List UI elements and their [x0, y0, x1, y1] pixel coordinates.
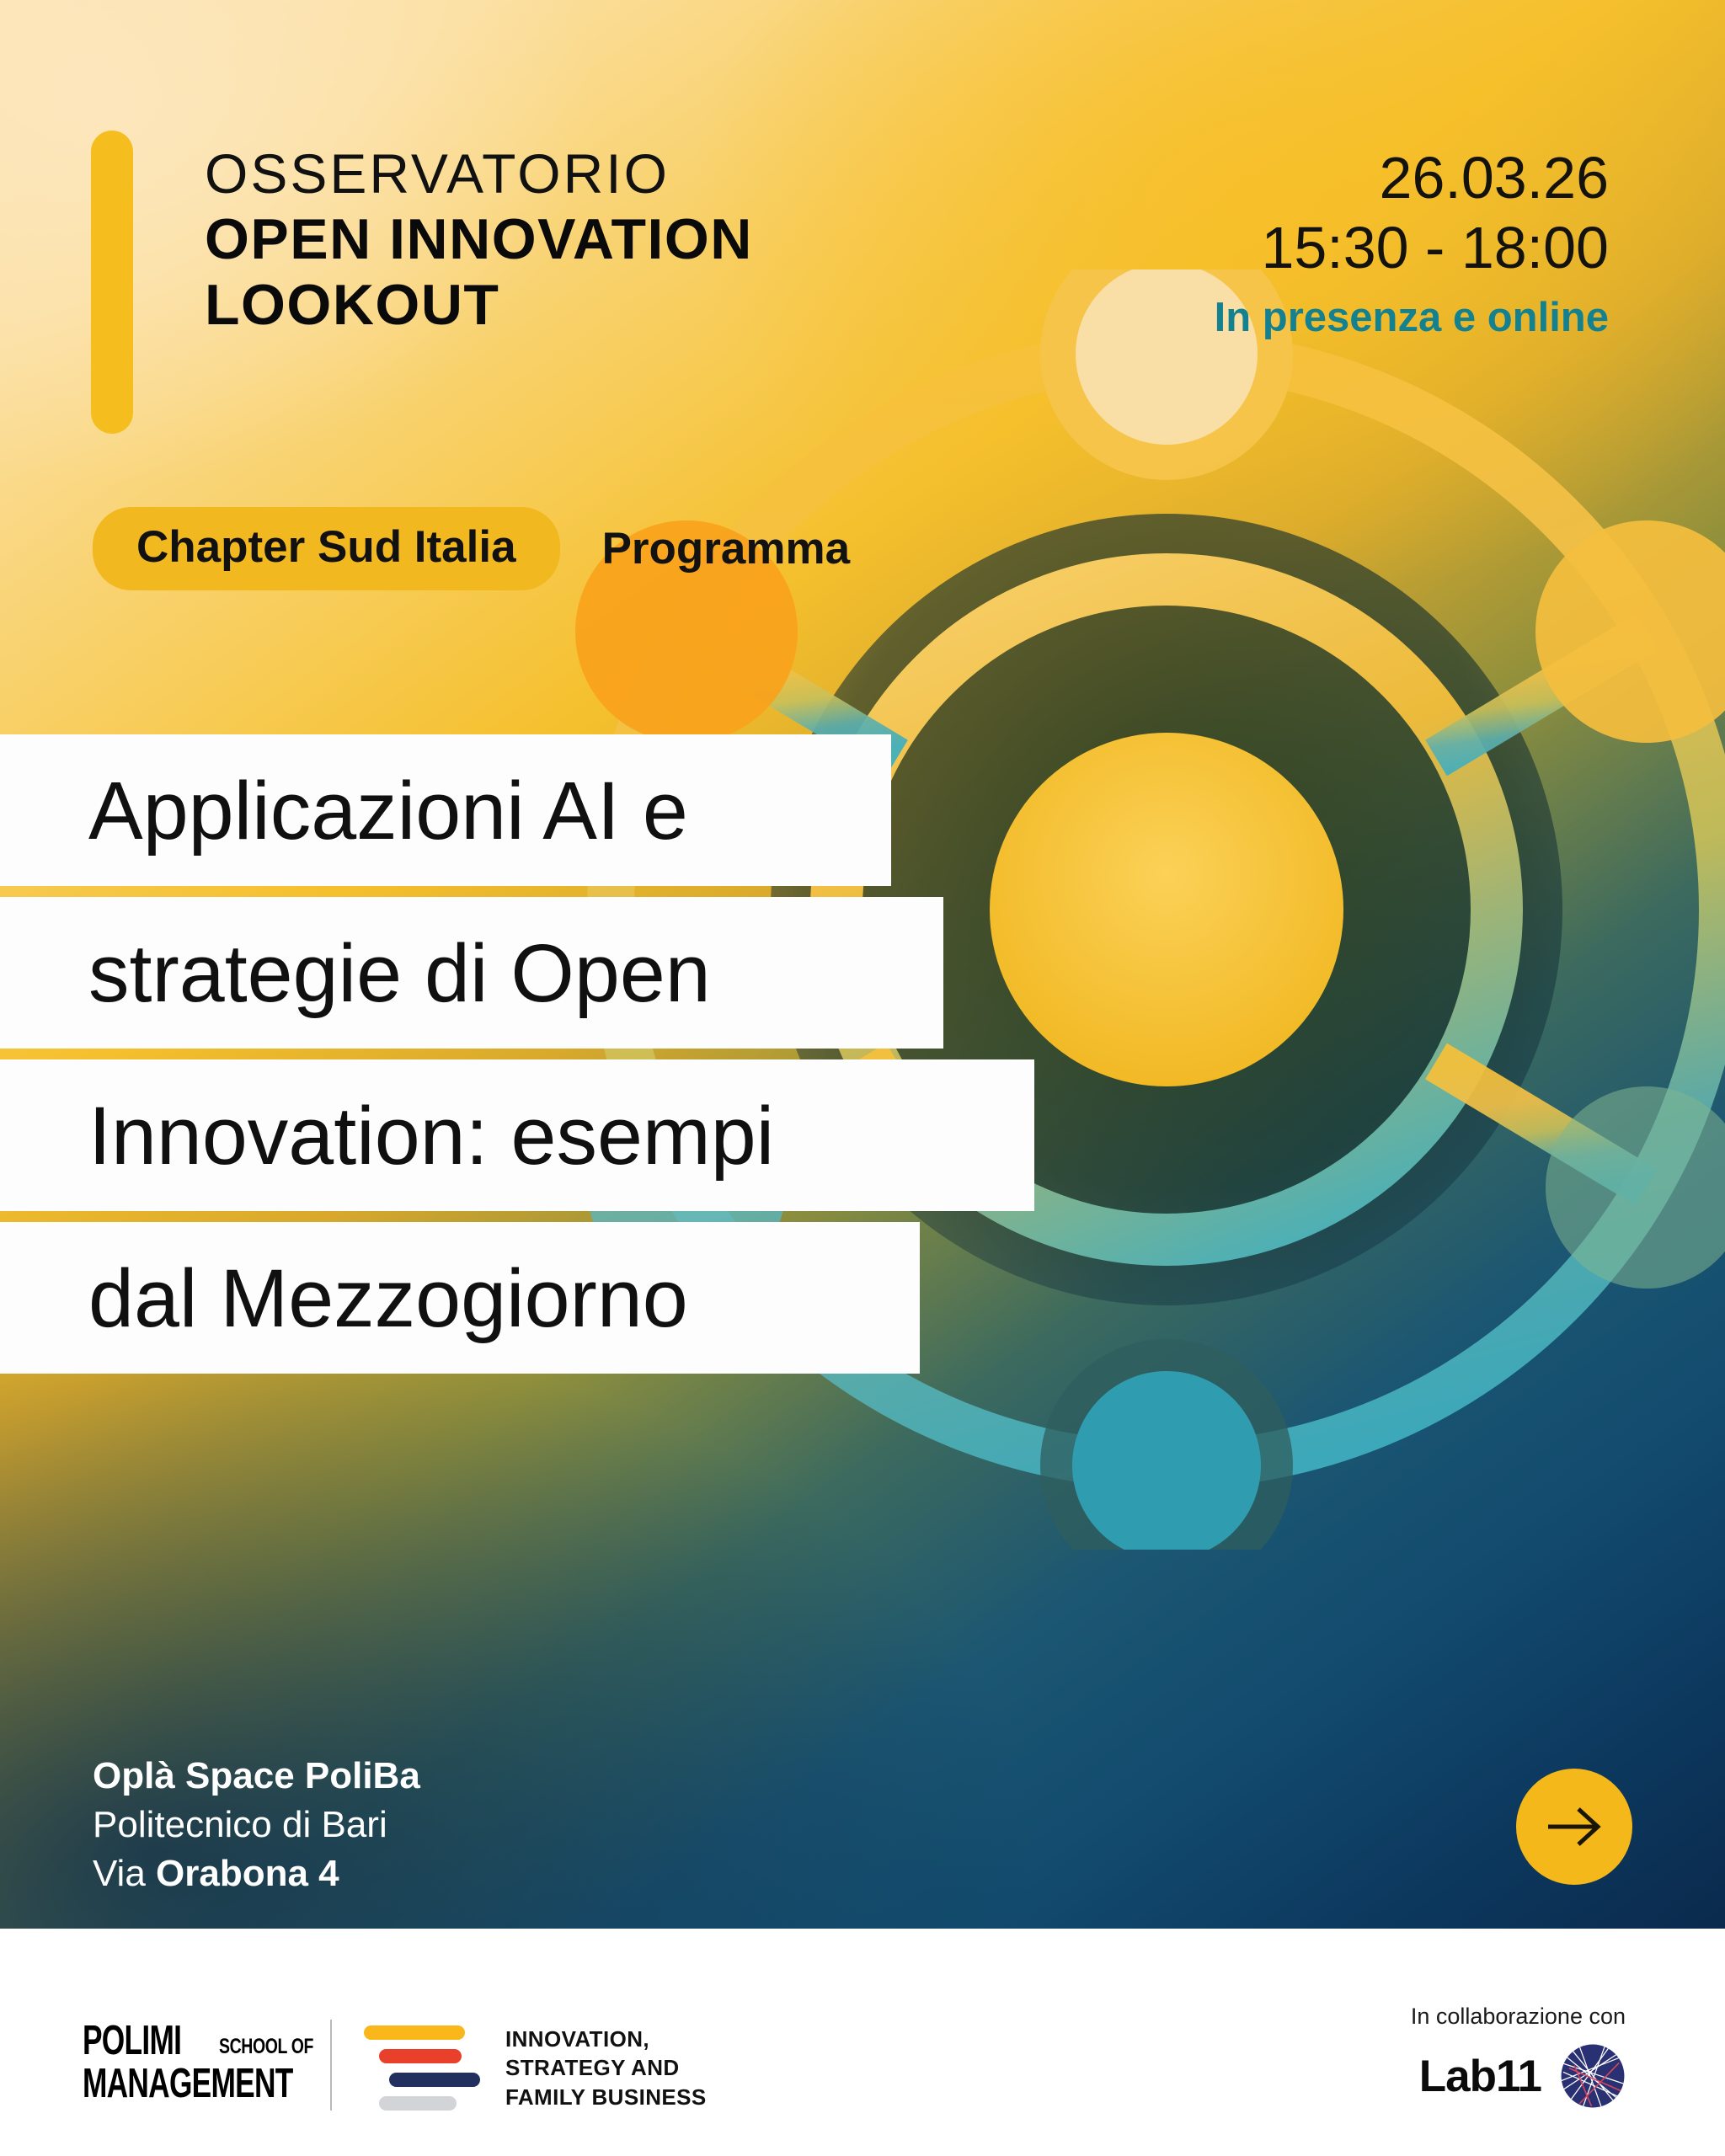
lab11-wordmark: Lab11 — [1419, 2051, 1541, 2102]
title-line-2-text: strategie di Open — [88, 932, 711, 1014]
isfb-bar-red — [379, 2049, 462, 2063]
chapter-badge: Chapter Sud Italia — [93, 507, 560, 590]
title-line-2: strategie di Open — [0, 897, 943, 1049]
isfb-bar-grey — [379, 2096, 457, 2111]
title-line-3: Innovation: esempi — [0, 1059, 1034, 1211]
venue-street-prefix: Via — [93, 1853, 156, 1894]
event-title: Applicazioni AI e strategie di Open Inno… — [0, 734, 1034, 1385]
event-time: 15:30 - 18:00 — [1215, 213, 1609, 283]
lab11-circle-icon — [1560, 2043, 1626, 2109]
datetime-block: 26.03.26 15:30 - 18:00 In presenza e onl… — [1215, 143, 1609, 347]
isfb-bar-yellow — [364, 2025, 465, 2040]
isfb-observatory-logo: INNOVATION, STRATEGY AND FAMILY BUSINESS — [364, 2025, 707, 2111]
brand-block: OSSERVATORIO OPEN INNOVATION LOOKOUT — [205, 141, 753, 338]
venue-address: Via Orabona 4 — [93, 1849, 420, 1898]
isfb-line-2: STRATEGY AND — [505, 2053, 707, 2082]
isfb-line-1: INNOVATION, — [505, 2025, 707, 2053]
arrow-right-icon — [1543, 1802, 1605, 1851]
programma-label: Programma — [602, 523, 851, 574]
brand-line-lookout: LOOKOUT — [205, 272, 753, 338]
isfb-line-3: FAMILY BUSINESS — [505, 2083, 707, 2111]
event-mode: In presenza e online — [1215, 289, 1609, 347]
collaboration-partner-row: Lab11 — [1411, 2043, 1626, 2109]
accent-bar — [91, 131, 133, 434]
venue-block: Oplà Space PoliBa Politecnico di Bari Vi… — [93, 1752, 420, 1898]
chapter-row: Chapter Sud Italia Programma — [93, 507, 850, 590]
event-date: 26.03.26 — [1215, 143, 1609, 213]
polimi-management-wordmark: MANAGEMENT — [83, 2063, 293, 2104]
polimi-wordmark: POLIMI — [83, 2021, 181, 2060]
title-line-1-text: Applicazioni AI e — [88, 770, 688, 851]
title-line-3-text: Innovation: esempi — [88, 1095, 774, 1177]
event-poster: OSSERVATORIO OPEN INNOVATION LOOKOUT 26.… — [0, 0, 1725, 2156]
venue-institution: Politecnico di Bari — [93, 1801, 420, 1849]
cta-arrow-button[interactable] — [1516, 1769, 1632, 1885]
brand-line-observatory: OSSERVATORIO — [205, 141, 753, 206]
venue-name: Oplà Space PoliBa — [93, 1752, 420, 1801]
isfb-bar-navy — [389, 2073, 480, 2087]
title-line-1: Applicazioni AI e — [0, 734, 891, 886]
polimi-school-of-label: SCHOOL OF — [219, 2036, 313, 2057]
title-line-4: dal Mezzogiorno — [0, 1222, 920, 1374]
isfb-bars-icon — [364, 2025, 482, 2111]
venue-street-name: Orabona 4 — [156, 1853, 339, 1894]
collaboration-block: In collaborazione con Lab11 — [1411, 2003, 1626, 2109]
title-line-4-text: dal Mezzogiorno — [88, 1257, 688, 1339]
collaboration-label: In collaborazione con — [1411, 2003, 1626, 2030]
brand-line-open-innovation: OPEN INNOVATION — [205, 206, 753, 272]
footer-divider — [330, 2020, 332, 2111]
isfb-text-block: INNOVATION, STRATEGY AND FAMILY BUSINESS — [505, 2025, 707, 2111]
